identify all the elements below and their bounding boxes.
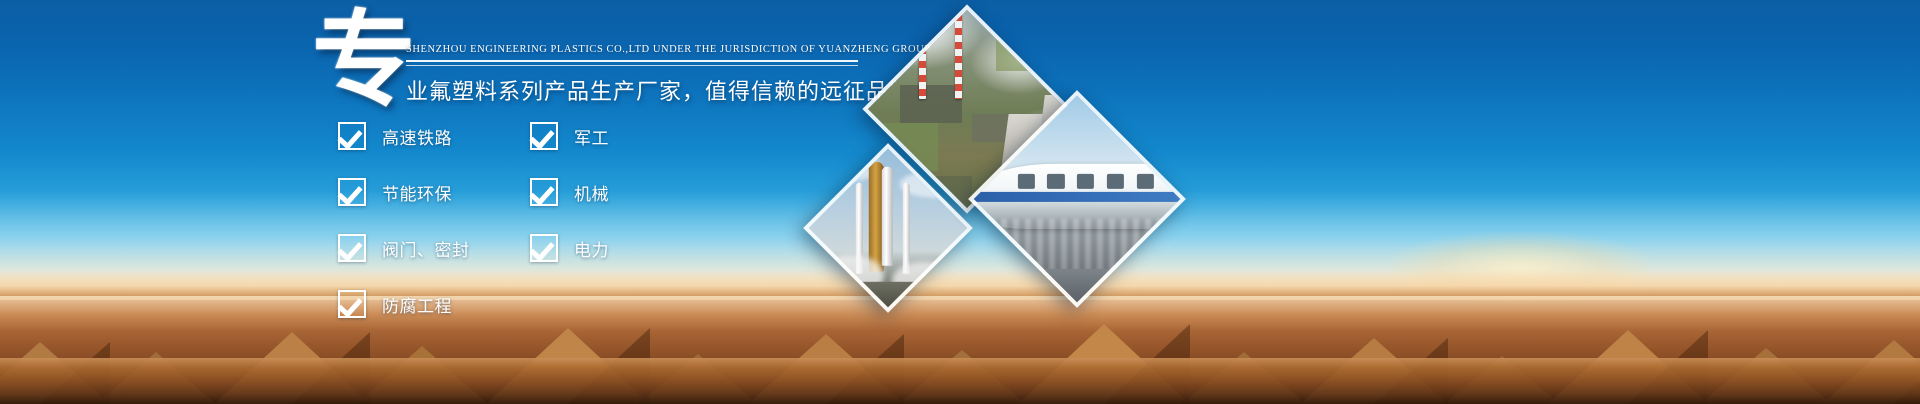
- checklist-item[interactable]: 军工: [530, 120, 609, 152]
- check-icon: [530, 122, 558, 150]
- promo-banner: 专 SHENZHOU ENGINEERING PLASTICS CO.,LTD …: [0, 0, 1920, 404]
- logo-character: 专: [312, 8, 416, 112]
- english-title: SHENZHOU ENGINEERING PLASTICS CO.,LTD UN…: [406, 44, 886, 55]
- check-icon: [338, 234, 366, 262]
- checklist-item[interactable]: 电力: [530, 232, 609, 264]
- checklist-item[interactable]: 机械: [530, 176, 609, 208]
- check-icon: [530, 234, 558, 262]
- checklist-item[interactable]: 高速铁路: [338, 120, 470, 152]
- checklist-item-label: 阀门、密封: [382, 236, 470, 261]
- checklist-item-label: 节能环保: [382, 180, 452, 205]
- check-icon: [338, 290, 366, 318]
- checklist-item-label: 防腐工程: [382, 292, 452, 317]
- checklist-item-label: 电力: [574, 236, 609, 261]
- checklist-item[interactable]: 节能环保: [338, 176, 470, 208]
- title-block: SHENZHOU ENGINEERING PLASTICS CO.,LTD UN…: [406, 44, 886, 66]
- checklist-item[interactable]: 防腐工程: [338, 288, 470, 320]
- checklist-item[interactable]: 阀门、密封: [338, 232, 470, 264]
- checklist-item-label: 机械: [574, 180, 609, 205]
- chinese-slogan: 业氟塑料系列产品生产厂家，值得信赖的远征品牌: [406, 74, 912, 106]
- horizon-haze: [0, 270, 1920, 296]
- checklist-item-label: 军工: [574, 124, 609, 149]
- check-icon: [530, 178, 558, 206]
- title-divider: [406, 60, 858, 66]
- checklist-column-left: 高速铁路 节能环保 阀门、密封 防腐工程: [338, 120, 470, 344]
- checklist-column-right: 军工 机械 电力: [530, 120, 609, 288]
- check-icon: [338, 178, 366, 206]
- check-icon: [338, 122, 366, 150]
- checklist-item-label: 高速铁路: [382, 124, 452, 149]
